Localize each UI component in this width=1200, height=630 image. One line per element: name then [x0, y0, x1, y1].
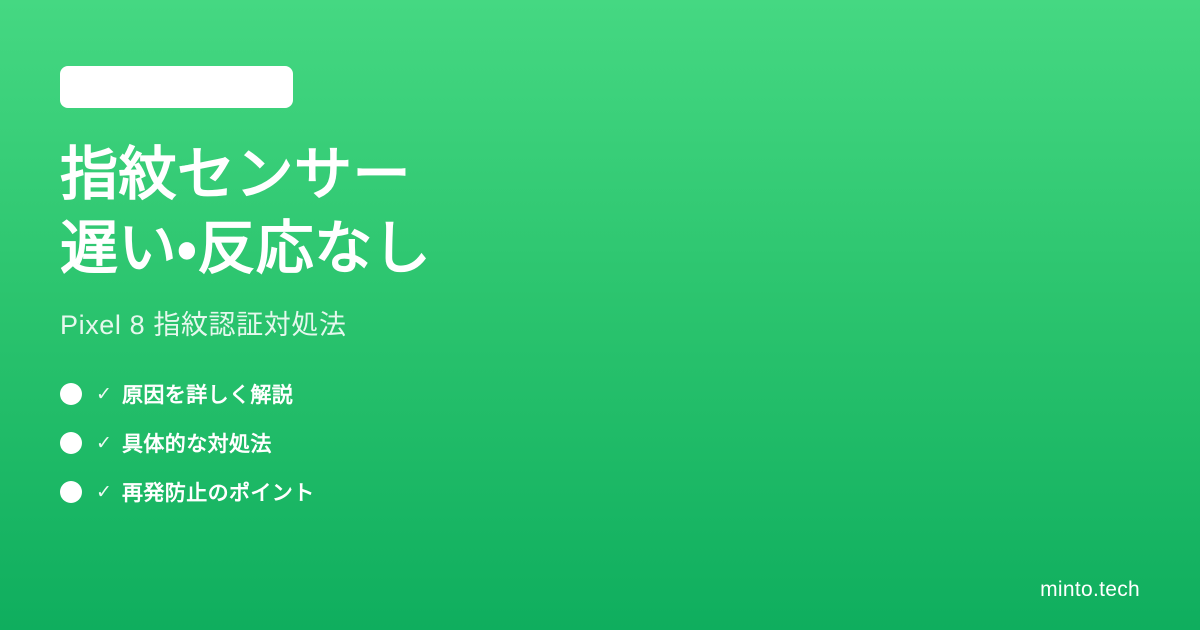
site-footer: minto.tech [1040, 578, 1140, 602]
bullet-dot-icon [60, 481, 82, 503]
feature-label: 具体的な対処法 [122, 428, 272, 458]
bullet-dot-icon [60, 383, 82, 405]
check-icon: ✓ [96, 483, 122, 502]
category-badge [60, 66, 293, 108]
headline-line-1: 指紋センサー [60, 138, 1140, 212]
ogp-card: 指紋センサー 遅い・反応なし Pixel 8 指紋認証対処法 ✓ 原因を詳しく解… [0, 0, 1200, 630]
page-title: 指紋センサー 遅い・反応なし [60, 138, 1140, 285]
headline-line-2: 遅い・反応なし [60, 212, 1140, 286]
feature-label: 再発防止のポイント [122, 477, 315, 507]
subtitle: Pixel 8 指紋認証対処法 [60, 303, 1140, 342]
bullet-dot-icon [60, 432, 82, 454]
feature-list: ✓ 原因を詳しく解説 ✓ 具体的な対処法 ✓ 再発防止のポイント [60, 380, 1140, 527]
feature-label: 原因を詳しく解説 [122, 379, 293, 409]
check-icon: ✓ [96, 385, 122, 404]
list-item: ✓ 再発防止のポイント [60, 478, 1140, 506]
list-item: ✓ 具体的な対処法 [60, 429, 1140, 457]
check-icon: ✓ [96, 434, 122, 453]
list-item: ✓ 原因を詳しく解説 [60, 380, 1140, 408]
